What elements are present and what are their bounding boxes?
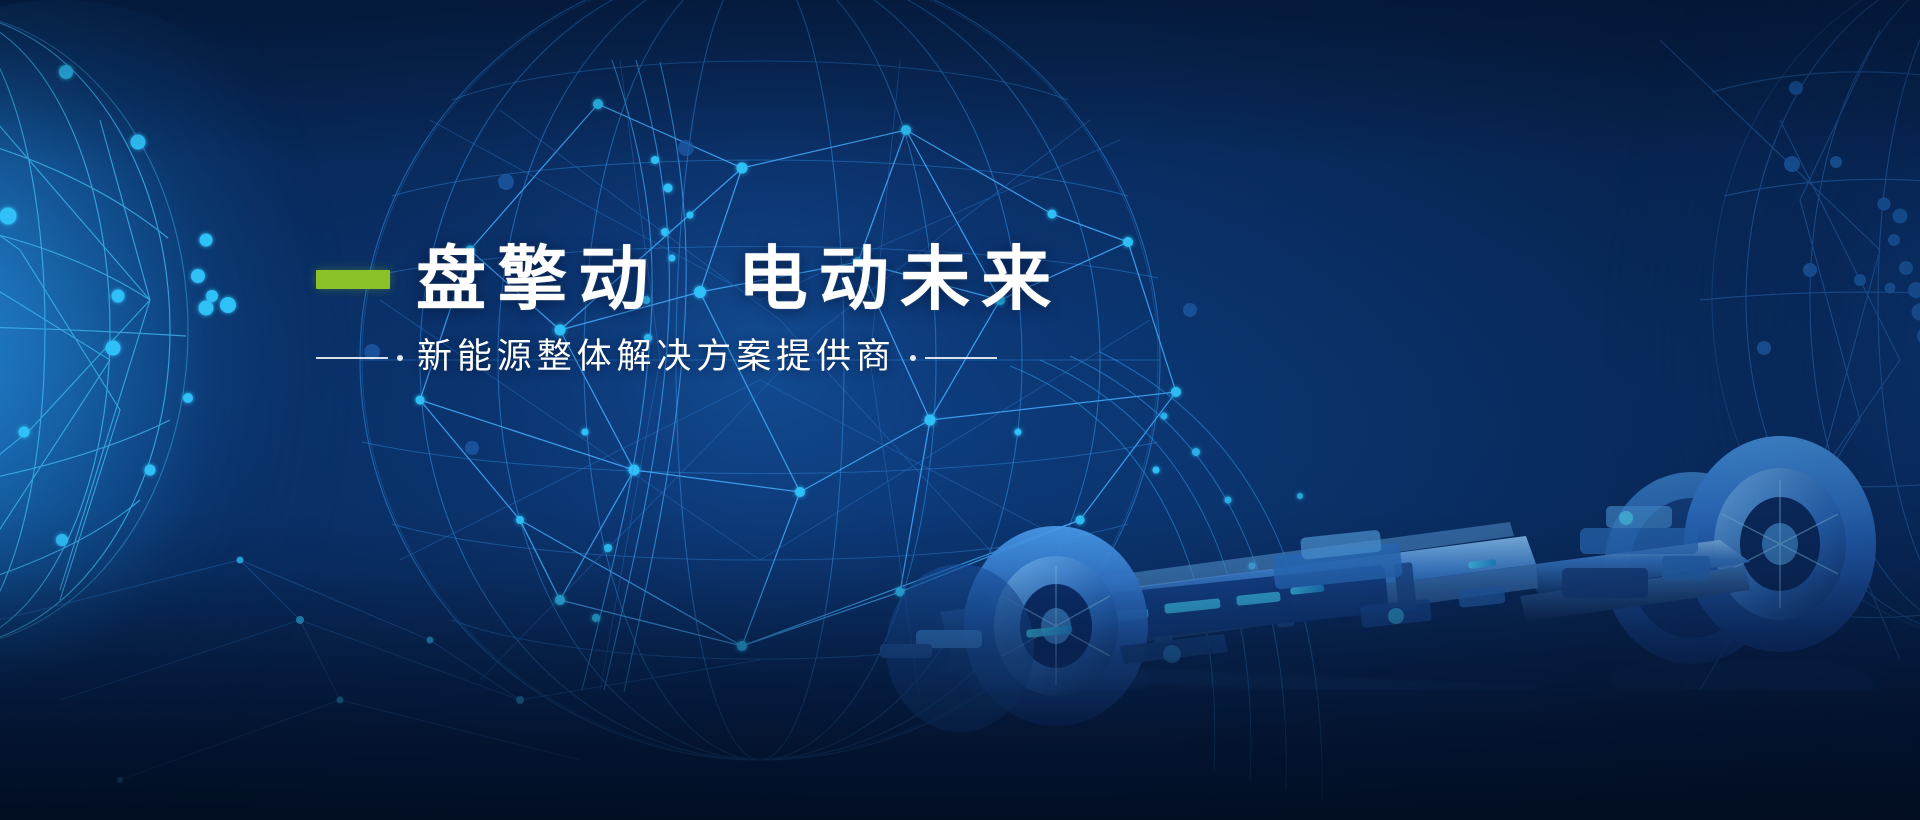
banner-headline: 盘擎动 电动未来 (316, 236, 1196, 322)
deco-dot-right (910, 355, 916, 361)
headline-segment-two: 电动未来 (738, 244, 1063, 314)
hero-banner: 盘擎动 电动未来 新能源整体解决方案提供商 (0, 0, 1920, 820)
deco-line-right (925, 357, 997, 359)
banner-subtitle: 新能源整体解决方案提供商 (417, 340, 896, 375)
subtitle-right-decoration (910, 355, 997, 361)
subtitle-left-decoration (316, 355, 403, 361)
headline-segment-one: 盘擎动 (416, 244, 660, 314)
headline-accent-bar-yi-character (316, 270, 390, 289)
deco-line-left (316, 357, 388, 359)
ev-chassis-reflection (820, 608, 1920, 691)
banner-subtitle-row: 新能源整体解决方案提供商 (316, 340, 1196, 375)
deco-dot-left (397, 355, 403, 361)
banner-text-block: 盘擎动 电动未来 新能源整体解决方案提供商 (316, 236, 1196, 375)
